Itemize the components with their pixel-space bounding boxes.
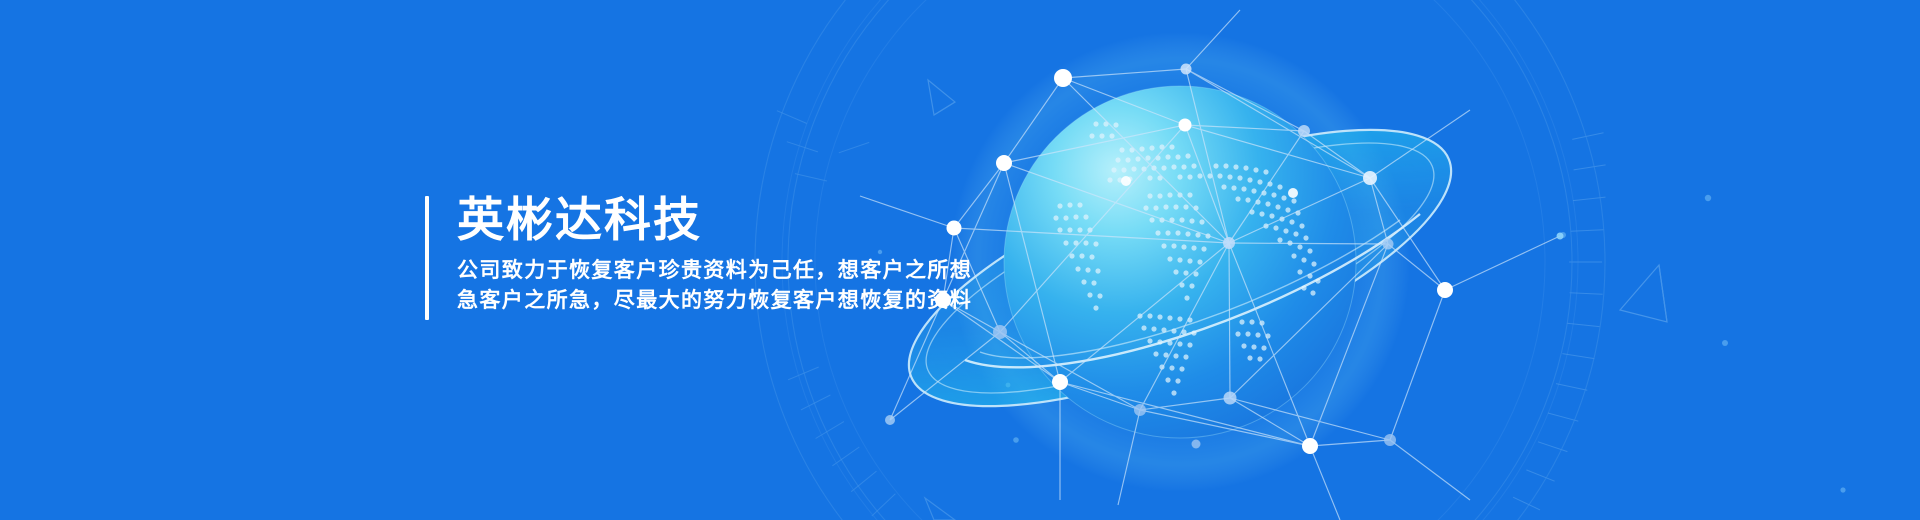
hero-banner: 英彬达科技 公司致力于恢复客户珍贵资料为己任，想客户之所想 急客户之所急，尽最大… <box>0 0 1920 520</box>
page-title: 英彬达科技 <box>457 196 972 243</box>
headline-block: 英彬达科技 公司致力于恢复客户珍贵资料为己任，想客户之所想 急客户之所急，尽最大… <box>425 196 972 320</box>
subtitle-line-2: 急客户之所急，尽最大的努力恢复客户想恢复的资料 <box>457 286 972 316</box>
subtitle-line-1: 公司致力于恢复客户珍贵资料为己任，想客户之所想 <box>457 256 972 286</box>
headline-text-column: 英彬达科技 公司致力于恢复客户珍贵资料为己任，想客户之所想 急客户之所急，尽最大… <box>457 196 972 316</box>
accent-bar <box>425 196 429 320</box>
